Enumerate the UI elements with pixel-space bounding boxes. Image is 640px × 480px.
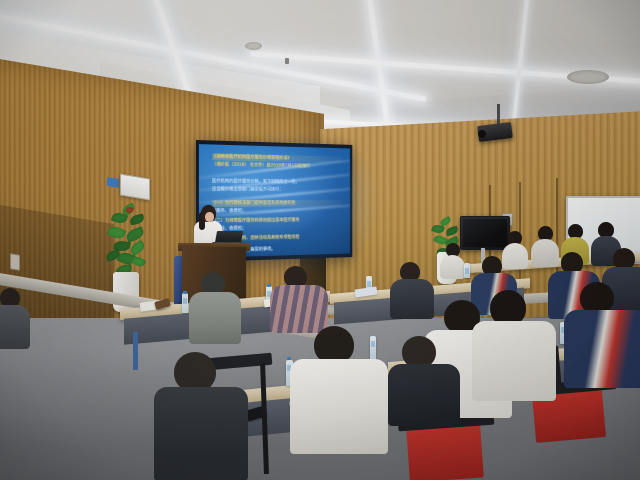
monitor-screen bbox=[463, 219, 507, 247]
torso bbox=[154, 387, 248, 480]
torso bbox=[0, 305, 30, 349]
water-bottle-cap-2 bbox=[267, 284, 271, 287]
torso bbox=[290, 359, 388, 454]
conference-room-photo: 《湖南省医疗机构医疗服务价格管理办法》 （湘价医〔2018〕 号文件）自2018… bbox=[0, 0, 640, 480]
torso bbox=[270, 285, 328, 333]
water-bottle-1 bbox=[182, 293, 188, 313]
water-bottle-cap-5 bbox=[287, 357, 291, 360]
sign-blue-tab bbox=[107, 177, 119, 188]
torso bbox=[440, 255, 465, 279]
ceiling-vent-1 bbox=[567, 70, 609, 84]
chair-red-1 bbox=[406, 423, 484, 480]
torso bbox=[502, 243, 528, 269]
presenter-face bbox=[205, 212, 214, 222]
torso bbox=[388, 364, 460, 426]
head bbox=[174, 352, 216, 392]
water-bottle-cap-1 bbox=[183, 291, 187, 294]
torso bbox=[390, 279, 434, 319]
wall-panel-left bbox=[10, 253, 20, 271]
ceiling-sprinkler bbox=[285, 58, 289, 64]
torso bbox=[564, 310, 640, 388]
torso bbox=[531, 239, 559, 267]
wall-display-monitor bbox=[460, 216, 510, 250]
desk-mid-left-leg bbox=[133, 332, 138, 370]
torso bbox=[189, 292, 241, 344]
water-bottle-6 bbox=[370, 336, 376, 360]
torso bbox=[472, 321, 556, 401]
ceiling-speaker-1 bbox=[245, 42, 262, 50]
water-bottle-4 bbox=[464, 263, 470, 278]
